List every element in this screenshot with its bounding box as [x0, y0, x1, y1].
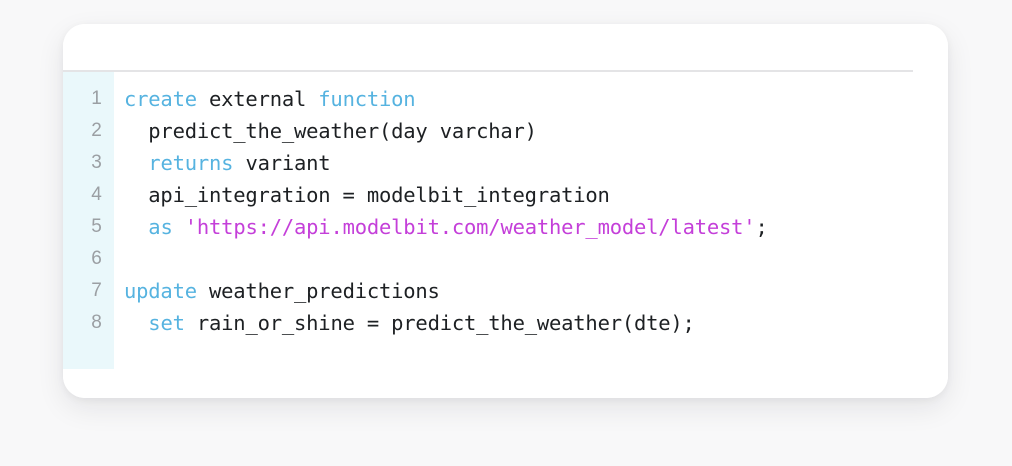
code-line[interactable]: returns variant [124, 147, 948, 179]
code-line[interactable]: set rain_or_shine = predict_the_weather(… [124, 307, 948, 339]
code-token-plain [124, 311, 148, 335]
line-number: 3 [63, 147, 114, 179]
code-token-plain [173, 215, 185, 239]
line-number: 7 [63, 275, 114, 307]
code-token-plain: external [197, 87, 318, 111]
code-content[interactable]: create external function predict_the_wea… [114, 72, 948, 351]
code-line[interactable] [124, 243, 948, 275]
code-token-plain: variant [233, 151, 330, 175]
code-token-keyword: function [318, 87, 415, 111]
code-token-string: 'https://api.modelbit.com/weather_model/… [185, 215, 756, 239]
line-number: 1 [63, 83, 114, 115]
page-root: 12345678 create external function predic… [0, 0, 1012, 466]
code-line[interactable]: create external function [124, 83, 948, 115]
line-number: 2 [63, 115, 114, 147]
code-token-plain: weather_predictions [197, 279, 440, 303]
code-editor[interactable]: 12345678 create external function predic… [63, 72, 948, 398]
code-token-keyword: set [148, 311, 184, 335]
code-token-plain: ; [755, 215, 767, 239]
line-number: 8 [63, 307, 114, 339]
code-token-plain: api_integration = modelbit_integration [124, 183, 610, 207]
code-token-plain: rain_or_shine = predict_the_weather(dte)… [185, 311, 695, 335]
code-token-keyword: create [124, 87, 197, 111]
code-line[interactable]: as 'https://api.modelbit.com/weather_mod… [124, 211, 948, 243]
code-token-keyword: update [124, 279, 197, 303]
card-header-toolbar [63, 24, 948, 70]
line-number: 5 [63, 211, 114, 243]
code-line[interactable]: api_integration = modelbit_integration [124, 179, 948, 211]
code-token-plain [124, 151, 148, 175]
line-number: 6 [63, 243, 114, 275]
code-snippet-card: 12345678 create external function predic… [63, 24, 948, 398]
code-token-keyword: returns [148, 151, 233, 175]
code-token-plain [124, 215, 148, 239]
line-number: 4 [63, 179, 114, 211]
code-line[interactable]: predict_the_weather(day varchar) [124, 115, 948, 147]
line-number-gutter: 12345678 [63, 72, 114, 369]
code-line[interactable]: update weather_predictions [124, 275, 948, 307]
code-token-plain: predict_the_weather(day varchar) [124, 119, 537, 143]
code-token-keyword: as [148, 215, 172, 239]
